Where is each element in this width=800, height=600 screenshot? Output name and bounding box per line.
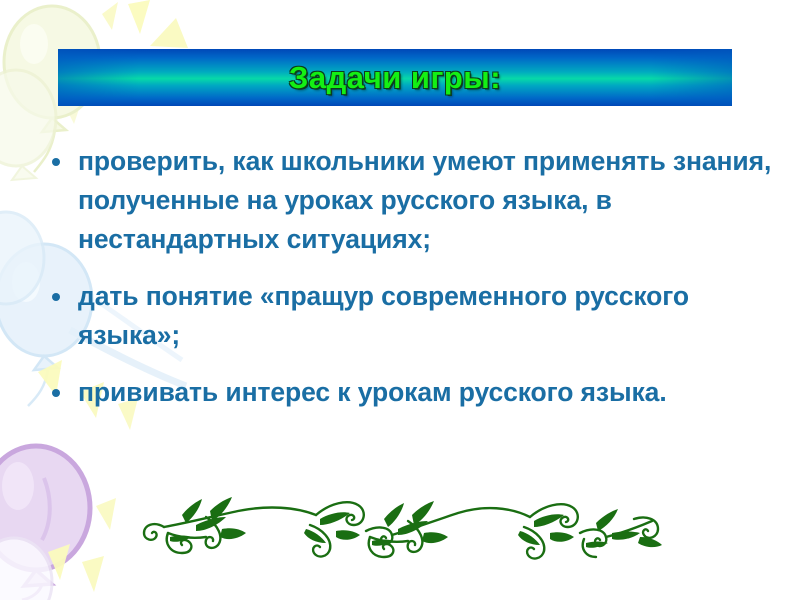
page-title: Задачи игры: xyxy=(289,60,501,96)
presentation-slide: Задачи игры: проверить, как школьники ум… xyxy=(0,0,800,600)
balloon-white-bottom-left xyxy=(0,538,52,600)
list-item-text: дать понятие «пращур современного русско… xyxy=(78,277,774,355)
bullet-dot-icon xyxy=(52,158,60,166)
balloon-purple-bottom-left xyxy=(0,446,90,600)
list-item: проверить, как школьники умеют применять… xyxy=(44,142,774,259)
bullet-list: проверить, как школьники умеют применять… xyxy=(44,142,774,412)
list-item-text: проверить, как школьники умеют применять… xyxy=(78,142,774,259)
list-item-text: прививать интерес к урокам русского язык… xyxy=(78,373,774,412)
floral-flourish-ornament xyxy=(134,495,670,565)
list-item: прививать интерес к урокам русского язык… xyxy=(44,373,774,412)
ray-burst-yellow-bottom xyxy=(48,498,116,592)
slide-title-banner: Задачи игры: xyxy=(58,49,732,106)
balloon-pale-blue-secondary xyxy=(0,212,44,304)
bullet-dot-icon xyxy=(52,293,60,301)
list-item: дать понятие «пращур современного русско… xyxy=(44,277,774,355)
bullet-dot-icon xyxy=(52,389,60,397)
